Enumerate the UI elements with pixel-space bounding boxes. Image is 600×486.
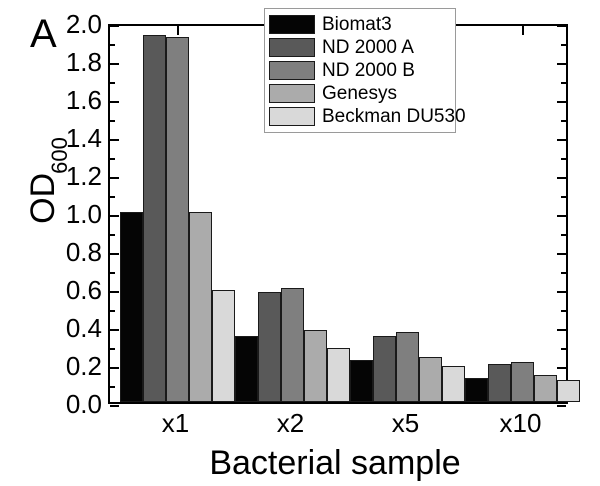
x-axis-title: Bacterial sample bbox=[0, 444, 600, 483]
y-axis-tick-major bbox=[110, 215, 119, 217]
bar bbox=[120, 212, 143, 402]
y-axis-tick-major-right bbox=[557, 367, 566, 369]
y-axis-tick-minor-right bbox=[561, 82, 566, 84]
y-axis-tick-major-right bbox=[557, 139, 566, 141]
legend-swatch bbox=[269, 15, 315, 34]
x-axis-tick-label: x2 bbox=[277, 408, 304, 438]
bar bbox=[258, 292, 281, 402]
y-axis-tick-major bbox=[110, 101, 119, 103]
bar bbox=[166, 37, 189, 402]
legend-swatch bbox=[269, 84, 315, 103]
y-axis-tick-minor-right bbox=[561, 234, 566, 236]
x-axis-tick-labels: x1x2x5x10 bbox=[108, 408, 568, 442]
y-axis-tick-label: 1.4 bbox=[66, 125, 102, 151]
y-axis-tick-major bbox=[110, 291, 119, 293]
bar bbox=[511, 362, 534, 402]
bar bbox=[442, 366, 465, 402]
bar bbox=[534, 375, 557, 402]
y-axis-tick-label: 0.8 bbox=[66, 239, 102, 265]
legend-label: ND 2000 A bbox=[322, 38, 414, 57]
y-axis-tick-minor-right bbox=[561, 196, 566, 198]
bar bbox=[189, 212, 212, 402]
y-axis-tick-minor-right bbox=[561, 310, 566, 312]
y-axis-tick-minor bbox=[110, 272, 115, 274]
y-axis-tick-label: 0.4 bbox=[66, 315, 102, 341]
y-axis-tick-minor bbox=[110, 120, 115, 122]
y-axis-tick-minor-right bbox=[561, 272, 566, 274]
bar bbox=[419, 357, 442, 402]
y-axis-tick-label: 0.6 bbox=[66, 277, 102, 303]
bar bbox=[281, 288, 304, 402]
legend-item: ND 2000 A bbox=[269, 36, 450, 59]
y-axis-tick-major bbox=[110, 405, 119, 407]
y-axis-tick-minor bbox=[110, 158, 115, 160]
y-axis-tick-minor-right bbox=[561, 348, 566, 350]
y-axis-tick-minor bbox=[110, 44, 115, 46]
legend-label: Genesys bbox=[322, 84, 397, 103]
x-axis-tick-minor-top bbox=[522, 26, 524, 31]
y-axis-tick-minor-right bbox=[561, 44, 566, 46]
y-axis-tick-minor bbox=[110, 234, 115, 236]
bar bbox=[304, 330, 327, 402]
bar bbox=[143, 35, 166, 402]
legend-item: Genesys bbox=[269, 82, 450, 105]
x-axis-tick-label: x1 bbox=[162, 408, 189, 438]
y-axis-tick-minor bbox=[110, 348, 115, 350]
y-axis-tick-major bbox=[110, 329, 119, 331]
legend-swatch bbox=[269, 107, 315, 126]
y-axis-tick-label: 1.8 bbox=[66, 49, 102, 75]
y-axis-tick-label: 2.0 bbox=[66, 11, 102, 37]
bar bbox=[373, 336, 396, 403]
y-axis-tick-major bbox=[110, 177, 119, 179]
figure-panel-a: A OD600 0.00.20.40.60.81.01.21.41.61.82.… bbox=[0, 0, 600, 486]
y-axis-tick-major bbox=[110, 139, 119, 141]
y-axis-tick-label: 1.0 bbox=[66, 201, 102, 227]
bar bbox=[350, 360, 373, 402]
y-axis-tick-major-right bbox=[557, 177, 566, 179]
bar bbox=[396, 332, 419, 402]
x-axis-tick-label: x5 bbox=[392, 408, 419, 438]
legend-item: ND 2000 B bbox=[269, 59, 450, 82]
legend: Biomat3ND 2000 AND 2000 BGenesysBeckman … bbox=[264, 8, 456, 133]
y-axis-tick-major bbox=[110, 63, 119, 65]
y-axis-tick-major-right bbox=[557, 405, 566, 407]
legend-label: Beckman DU530 bbox=[322, 107, 466, 126]
y-axis-tick-minor-right bbox=[561, 120, 566, 122]
y-axis-tick-minor bbox=[110, 82, 115, 84]
bar bbox=[465, 378, 488, 402]
y-axis-tick-major-right bbox=[557, 101, 566, 103]
y-axis-tick-major bbox=[110, 253, 119, 255]
legend-item: Beckman DU530 bbox=[269, 105, 450, 128]
y-axis-tick-major bbox=[110, 25, 119, 27]
y-axis-tick-label: 0.2 bbox=[66, 353, 102, 379]
legend-item: Biomat3 bbox=[269, 13, 450, 36]
bar bbox=[327, 348, 350, 402]
y-axis-tick-minor bbox=[110, 310, 115, 312]
y-axis-tick-label: 0.0 bbox=[66, 391, 102, 417]
bar bbox=[488, 364, 511, 402]
y-axis-tick-minor bbox=[110, 386, 115, 388]
bar bbox=[557, 380, 580, 402]
y-axis-tick-major-right bbox=[557, 291, 566, 293]
y-axis-tick-minor-right bbox=[561, 158, 566, 160]
y-axis-tick-label: 1.6 bbox=[66, 87, 102, 113]
bar bbox=[212, 290, 235, 402]
y-axis-tick-major bbox=[110, 367, 119, 369]
legend-label: Biomat3 bbox=[322, 15, 392, 34]
y-axis-tick-major-right bbox=[557, 215, 566, 217]
y-axis-tick-labels: 0.00.20.40.60.81.01.21.41.61.82.0 bbox=[40, 24, 102, 404]
y-axis-tick-minor bbox=[110, 196, 115, 198]
legend-swatch bbox=[269, 61, 315, 80]
legend-swatch bbox=[269, 38, 315, 57]
y-axis-tick-major-right bbox=[557, 25, 566, 27]
bar bbox=[235, 336, 258, 403]
y-axis-tick-major-right bbox=[557, 253, 566, 255]
legend-label: ND 2000 B bbox=[322, 61, 415, 80]
x-axis-tick-label: x10 bbox=[500, 408, 542, 438]
y-axis-tick-major-right bbox=[557, 329, 566, 331]
y-axis-tick-label: 1.2 bbox=[66, 163, 102, 189]
y-axis-tick-major-right bbox=[557, 63, 566, 65]
x-axis-tick-minor-top bbox=[177, 26, 179, 31]
